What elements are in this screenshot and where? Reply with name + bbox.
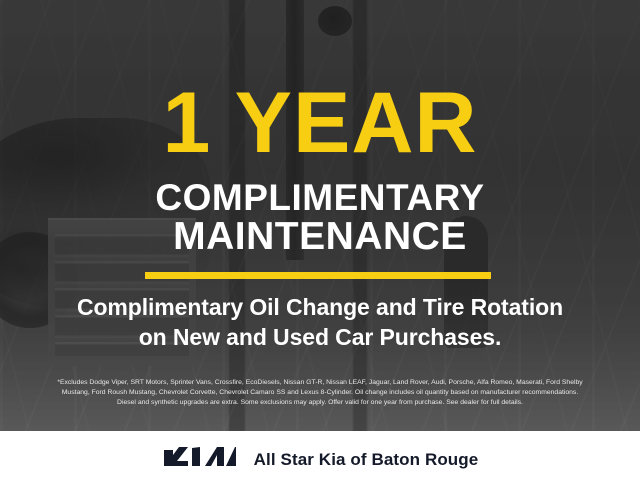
footer-bar: All Star Kia of Baton Rouge [0, 431, 640, 488]
headline-line-complimentary: COMPLIMENTARY [155, 177, 484, 218]
promo-ad: 1 YEAR COMPLIMENTARY MAINTENANCE Complim… [0, 0, 640, 488]
yellow-divider [145, 272, 491, 279]
hero-copy: 1 YEAR COMPLIMENTARY MAINTENANCE Complim… [0, 0, 640, 431]
headline-subtitle: COMPLIMENTARY MAINTENANCE [0, 178, 640, 256]
headline-line-maintenance: MAINTENANCE [0, 217, 640, 256]
dealer-name: All Star Kia of Baton Rouge [254, 450, 479, 470]
disclaimer-text: *Excludes Dodge Viper, SRT Motors, Sprin… [16, 378, 624, 408]
kia-logo-icon [162, 446, 236, 473]
offer-line-1: Complimentary Oil Change and Tire Rotati… [77, 294, 563, 320]
disclaimer-line-2: Mustang, Ford Roush Mustang, Chevrolet C… [16, 388, 624, 398]
disclaimer-line-1: *Excludes Dodge Viper, SRT Motors, Sprin… [16, 378, 624, 388]
hero-banner: 1 YEAR COMPLIMENTARY MAINTENANCE Complim… [0, 0, 640, 431]
offer-line-2: on New and Used Car Purchases. [139, 324, 502, 350]
offer-text: Complimentary Oil Change and Tire Rotati… [0, 292, 640, 352]
headline-year: 1 YEAR [0, 80, 640, 166]
disclaimer-line-3: Diesel and synthetic upgrades are extra.… [16, 398, 624, 408]
